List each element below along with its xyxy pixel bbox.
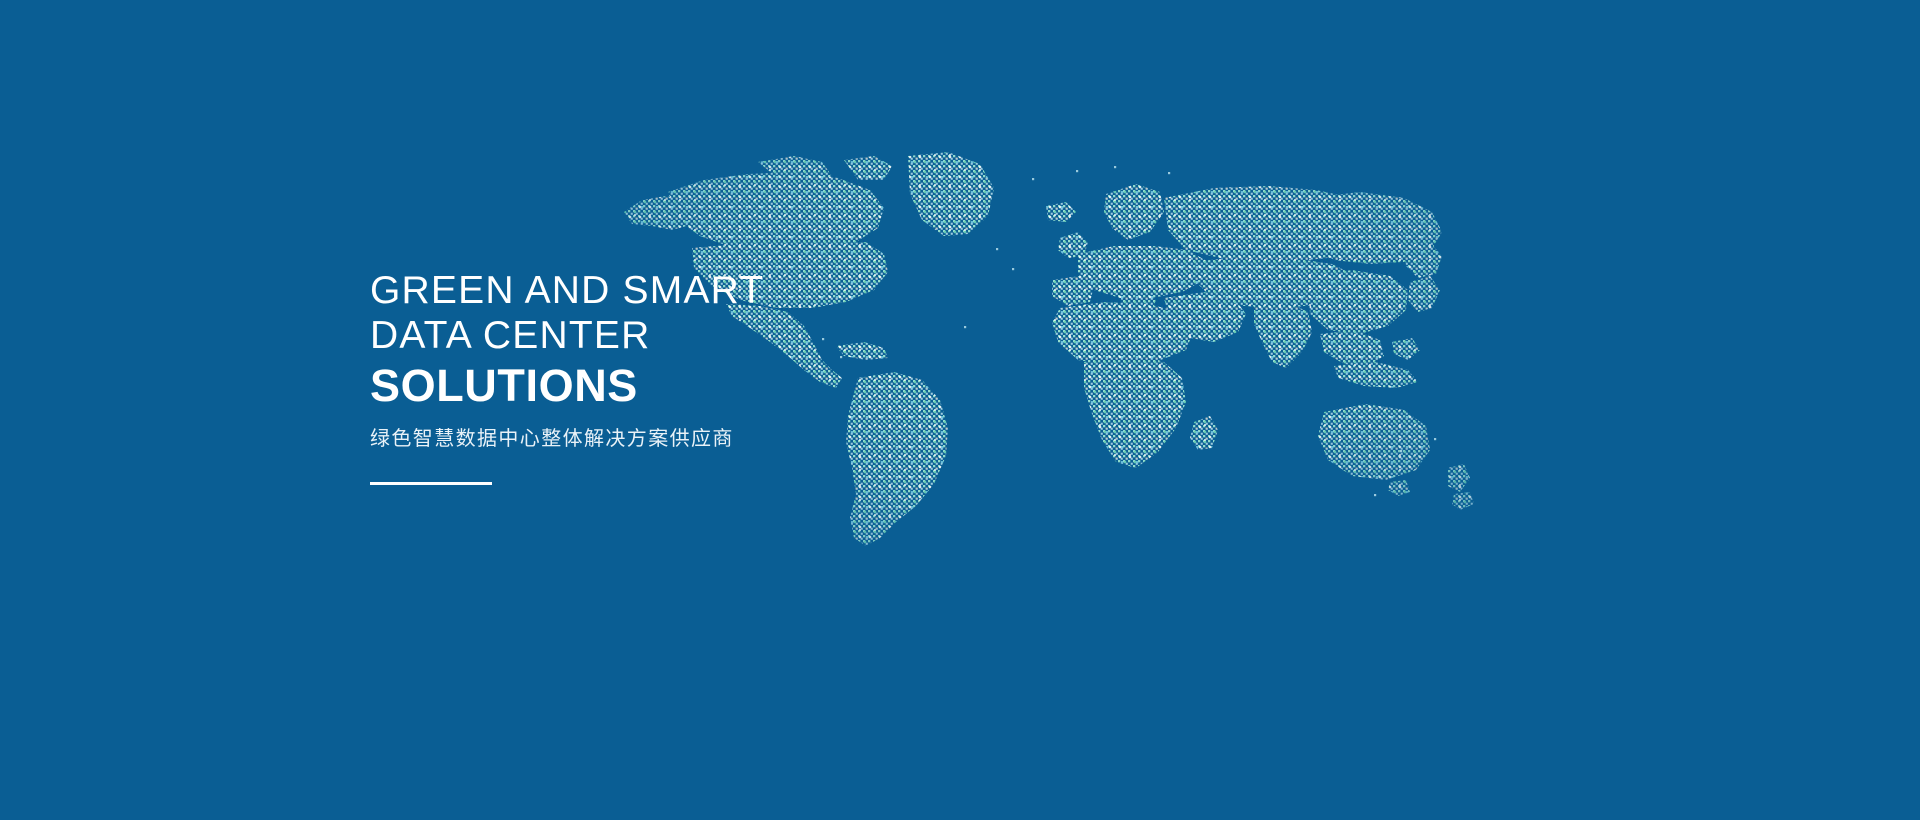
hero-subtitle: 绿色智慧数据中心整体解决方案供应商 [370,426,1070,452]
hero-copy: GREEN AND SMART DATA CENTER SOLUTIONS 绿色… [370,268,1070,485]
hero-banner: GREEN AND SMART DATA CENTER SOLUTIONS 绿色… [0,0,1920,820]
headline-line-3: SOLUTIONS [370,360,1070,412]
accent-rule [370,482,492,485]
headline-line-1: GREEN AND SMART [370,268,1070,313]
headline-line-2: DATA CENTER [370,313,1070,358]
page-title: GREEN AND SMART DATA CENTER SOLUTIONS [370,268,1070,412]
